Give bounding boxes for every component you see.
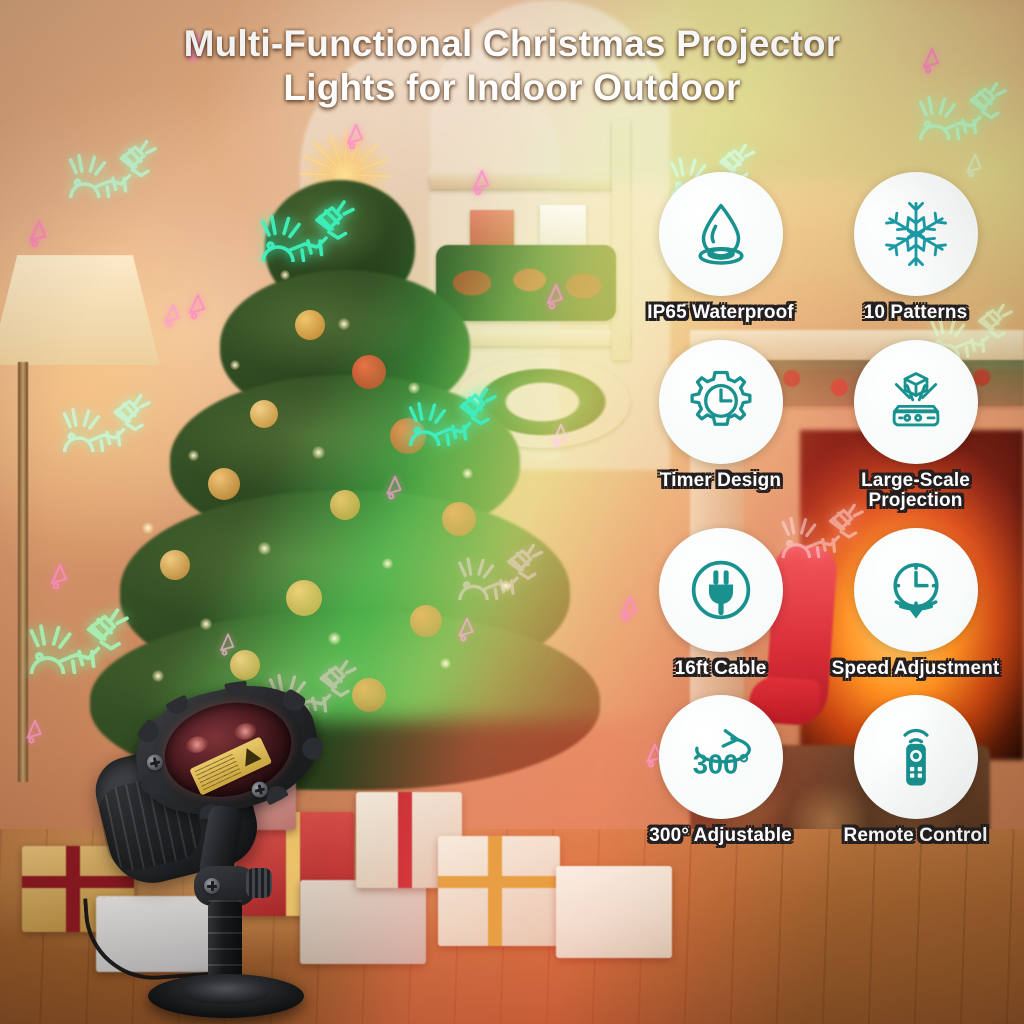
rotation-300-icon: 300°: [686, 722, 756, 792]
gear-clock-icon: [686, 367, 756, 437]
page-title: Multi-Functional Christmas Projector Lig…: [0, 22, 1024, 109]
feature-300-adjustable[interactable]: 300° 300° Adjustable: [628, 695, 813, 847]
warning-triangle-icon: [238, 744, 261, 766]
feature-icon-circle: [659, 340, 783, 464]
feature-icon-circle: [854, 528, 978, 652]
adjustment-knob[interactable]: [246, 868, 272, 898]
feature-icon-circle: [659, 528, 783, 652]
feature-grid: IP65 Waterproof: [628, 172, 1008, 847]
feature-timer-design[interactable]: Timer Design: [628, 340, 813, 512]
snowflake-icon: [881, 199, 951, 269]
power-plug-icon: [686, 555, 756, 625]
title-line-1: Multi-Functional Christmas Projector: [184, 23, 841, 64]
product-marketing-image: Multi-Functional Christmas Projector Lig…: [0, 0, 1024, 1024]
feature-large-scale-projection[interactable]: Large-Scale Projection: [823, 340, 1008, 512]
clock-speed-icon: [881, 555, 951, 625]
feature-remote-control[interactable]: Remote Control: [823, 695, 1008, 847]
feature-label: Large-Scale Projection: [861, 471, 970, 512]
feature-ip65-waterproof[interactable]: IP65 Waterproof: [628, 172, 813, 324]
base-plate: [148, 974, 304, 1018]
feature-icon-circle: 300°: [659, 695, 783, 819]
projector-lens: [155, 691, 300, 809]
feature-icon-circle: [659, 172, 783, 296]
projector-beam-icon: [881, 367, 951, 437]
water-drop-icon: [686, 199, 756, 269]
housing-screw: [145, 753, 164, 772]
feature-10-patterns[interactable]: 10 Patterns: [823, 172, 1008, 324]
feature-label: 300° Adjustable: [649, 826, 792, 847]
title-line-2: Lights for Indoor Outdoor: [54, 66, 970, 110]
feature-label: Speed Adjustment: [832, 659, 1000, 680]
feature-speed-adjustment[interactable]: Speed Adjustment: [823, 528, 1008, 680]
feature-icon-circle: [854, 340, 978, 464]
feature-label: Timer Design: [660, 471, 781, 492]
feature-icon-circle: [854, 695, 978, 819]
feature-16ft-cable[interactable]: 16ft Cable: [628, 528, 813, 680]
feature-label: 10 Patterns: [864, 303, 968, 324]
christmas-laser-projector: [96, 688, 336, 1024]
power-cable: [83, 890, 219, 985]
housing-screw: [250, 780, 269, 799]
joint-screw: [204, 878, 220, 894]
feature-icon-circle: [854, 172, 978, 296]
feature-label: Remote Control: [844, 826, 988, 847]
projector-head: [125, 671, 329, 829]
remote-control-icon: [881, 722, 951, 792]
feature-label: 16ft Cable: [675, 659, 767, 680]
rotation-degrees-text: 300°: [692, 748, 749, 779]
feature-label: IP65 Waterproof: [647, 303, 794, 324]
lens-emitter: [185, 734, 210, 755]
